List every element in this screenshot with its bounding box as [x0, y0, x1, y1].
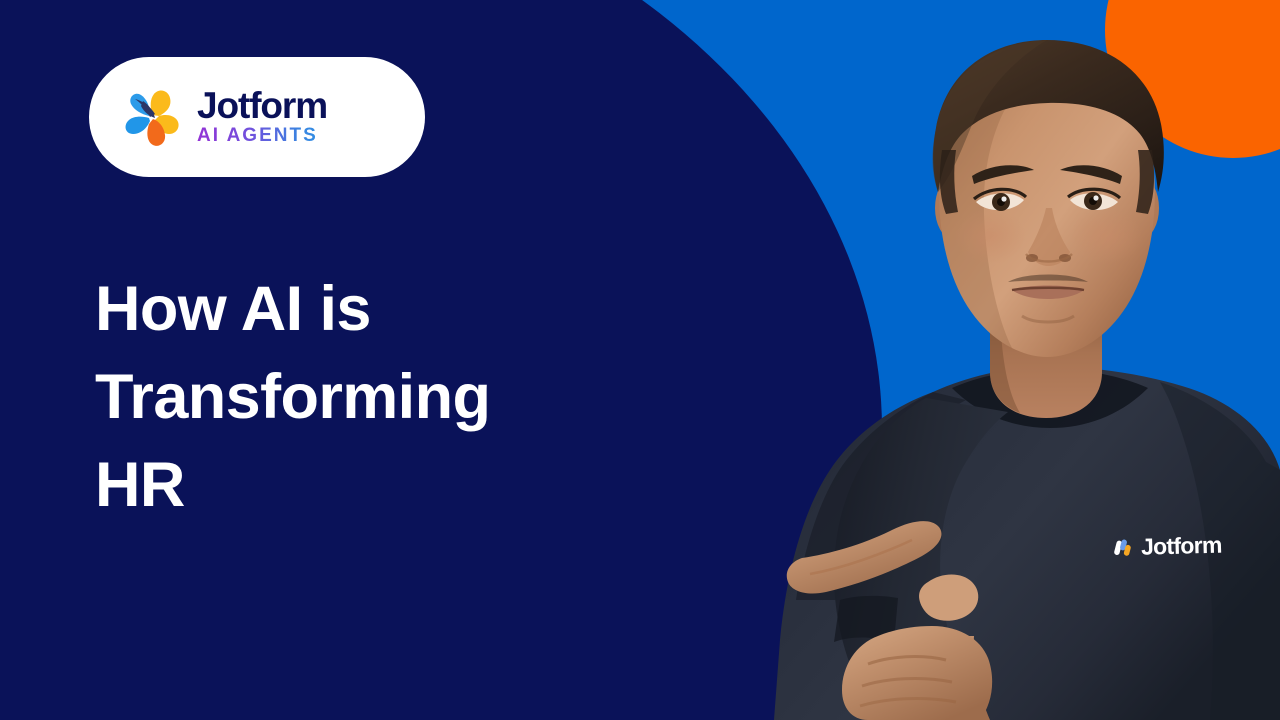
jotform-slashes-icon: [1113, 536, 1136, 559]
page-title: How AI is Transforming HR: [95, 265, 735, 530]
jotform-ai-agents-logo-badge[interactable]: Jotform AI AGENTS: [89, 57, 425, 177]
ai-agents-subtitle: AI AGENTS: [197, 126, 327, 147]
shirt-logo-wordmark: Jotform: [1141, 534, 1222, 559]
jotform-wordmark: Jotform: [197, 87, 327, 125]
jotform-pinwheel-icon: [119, 85, 183, 149]
shirt-jotform-logo: Jotform: [1113, 534, 1222, 560]
video-thumbnail-stage: Jotform Jotform AI AGENTS: [0, 0, 1280, 720]
logo-text-block: Jotform AI AGENTS: [197, 87, 327, 147]
presenter-photo: [690, 0, 1280, 720]
